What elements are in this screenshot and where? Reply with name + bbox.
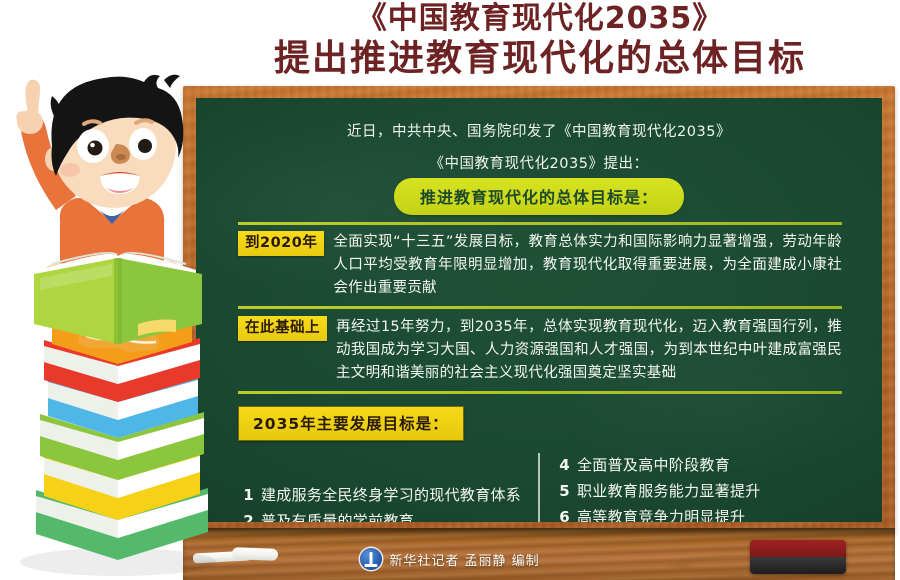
- goal-number: 6: [554, 505, 570, 522]
- goal-number: 1: [238, 483, 254, 509]
- block-text-2035: 再经过15年努力，到2035年，总体实现教育现代化，迈入教育强国行列，推动我国成…: [336, 316, 842, 385]
- list-item: 6 高等教育竞争力明显提升: [554, 505, 842, 522]
- goals-column-right: 4 全面普及高中阶段教育 5 职业教育服务能力显著提升 6 高等教育竞争力明显提…: [538, 453, 842, 522]
- title-line-2: 提出推进教育现代化的总体目标: [190, 37, 890, 80]
- goals-column-left: 1 建成服务全民终身学习的现代教育体系 2 普及有质量的学前教育 3 实现优质均…: [238, 453, 538, 522]
- block-divider-bottom-2: [238, 391, 842, 394]
- goal-number: 5: [554, 479, 570, 505]
- goals-section: 2035年主要发展目标是： 1 建成服务全民终身学习的现代教育体系 2 普及有质…: [238, 406, 842, 522]
- block-divider-top: [238, 222, 842, 225]
- xinhua-logo-icon: [360, 548, 382, 570]
- goal-block-2020: 到2020年 全面实现“十三五”发展目标，教育总体实力和国际影响力显著增强，劳动…: [238, 222, 842, 309]
- goal-label: 建成服务全民终身学习的现代教育体系: [261, 483, 521, 509]
- page-title: 《中国教育现代化2035》 提出推进教育现代化的总体目标: [190, 2, 890, 80]
- list-item: 4 全面普及高中阶段教育: [554, 453, 842, 479]
- illustration-boy-reading: [0, 24, 230, 580]
- title-line-1: 《中国教育现代化2035》: [190, 2, 890, 37]
- goal-label: 全面普及高中阶段教育: [577, 453, 730, 479]
- block-tag-basis: 在此基础上: [238, 316, 327, 341]
- goal-label: 高等教育竞争力明显提升: [577, 505, 745, 522]
- blackboard-surface: 近日，中共中央、国务院印发了《中国教育现代化2035》 《中国教育现代化2035…: [196, 98, 882, 522]
- credit-text: 新华社记者 孟丽静 编制: [389, 550, 539, 569]
- intro-line-1: 近日，中共中央、国务院印发了《中国教育现代化2035》: [196, 120, 882, 141]
- headline-pill: 推进教育现代化的总体目标是：: [394, 178, 684, 215]
- goal-block-2035: 在此基础上 再经过15年努力，到2035年，总体实现教育现代化，迈入教育强国行列…: [238, 310, 842, 394]
- goal-number: 2: [238, 509, 254, 522]
- infographic-canvas: 《中国教育现代化2035》 提出推进教育现代化的总体目标 近日，中共中央、国务院…: [0, 0, 900, 580]
- list-item: 2 普及有质量的学前教育: [238, 509, 538, 522]
- intro-line-2: 《中国教育现代化2035》提出：: [196, 152, 882, 173]
- tray-shadow: [183, 528, 895, 538]
- goals-heading: 2035年主要发展目标是：: [238, 406, 464, 441]
- list-item: 1 建成服务全民终身学习的现代教育体系: [238, 483, 538, 509]
- goal-label: 职业教育服务能力显著提升: [577, 479, 761, 505]
- block-tag-2020: 到2020年: [238, 231, 324, 256]
- goal-number: 4: [554, 453, 570, 479]
- block-divider-bottom: [238, 306, 842, 309]
- goal-label: 普及有质量的学前教育: [261, 509, 414, 522]
- block-text-2020: 全面实现“十三五”发展目标，教育总体实力和国际影响力显著增强，劳动年龄人口平均受…: [333, 231, 842, 300]
- list-item: 5 职业教育服务能力显著提升: [554, 479, 842, 505]
